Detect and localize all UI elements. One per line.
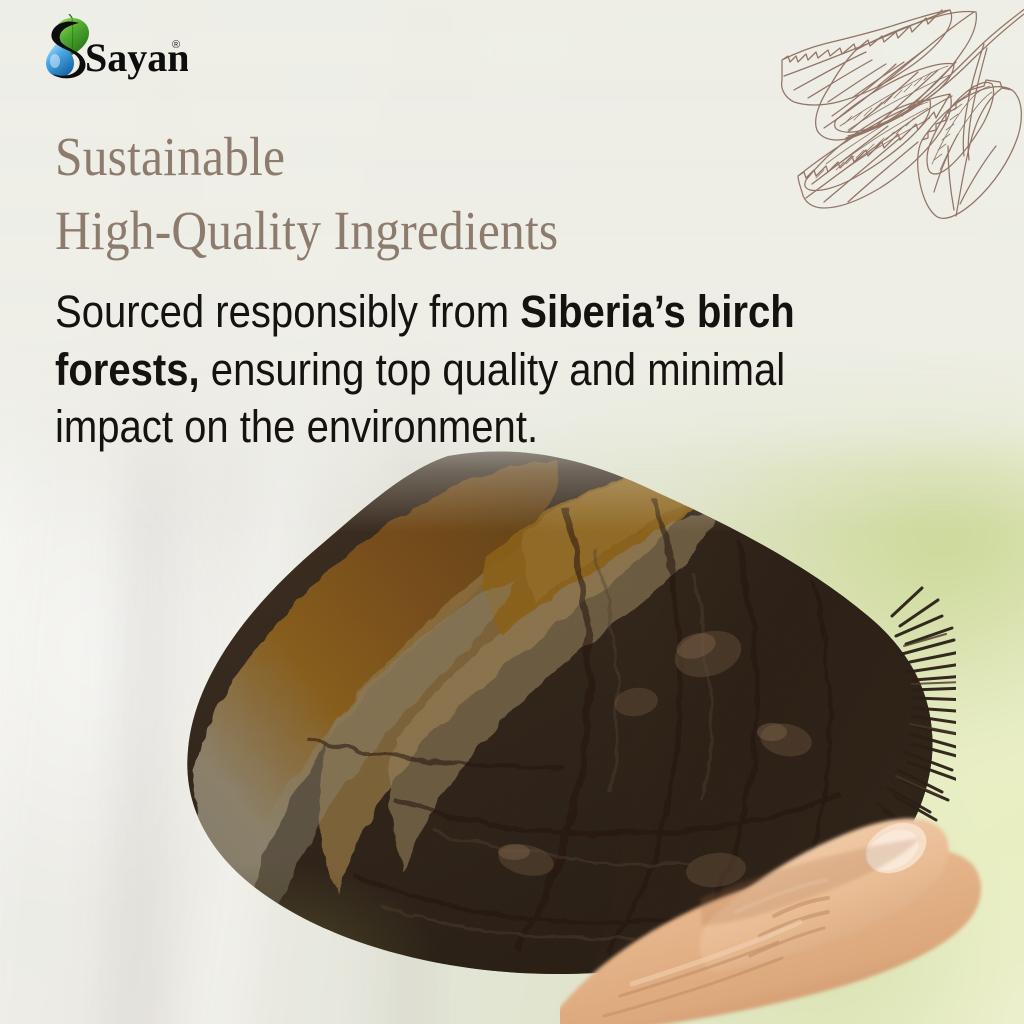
body-copy-lead: Sourced responsibly from <box>55 286 520 337</box>
body-copy: Sourced responsibly from Siberia’s birch… <box>55 283 856 456</box>
registered-trademark-symbol: ® <box>172 39 180 51</box>
promotional-poster: Sayan ® Sustainable High-Quality Ingredi… <box>0 0 1024 1024</box>
page-title: Sustainable High-Quality Ingredients <box>55 120 721 267</box>
birch-branch-icon <box>778 4 1024 252</box>
brand-logo[interactable]: Sayan ® <box>38 14 188 80</box>
